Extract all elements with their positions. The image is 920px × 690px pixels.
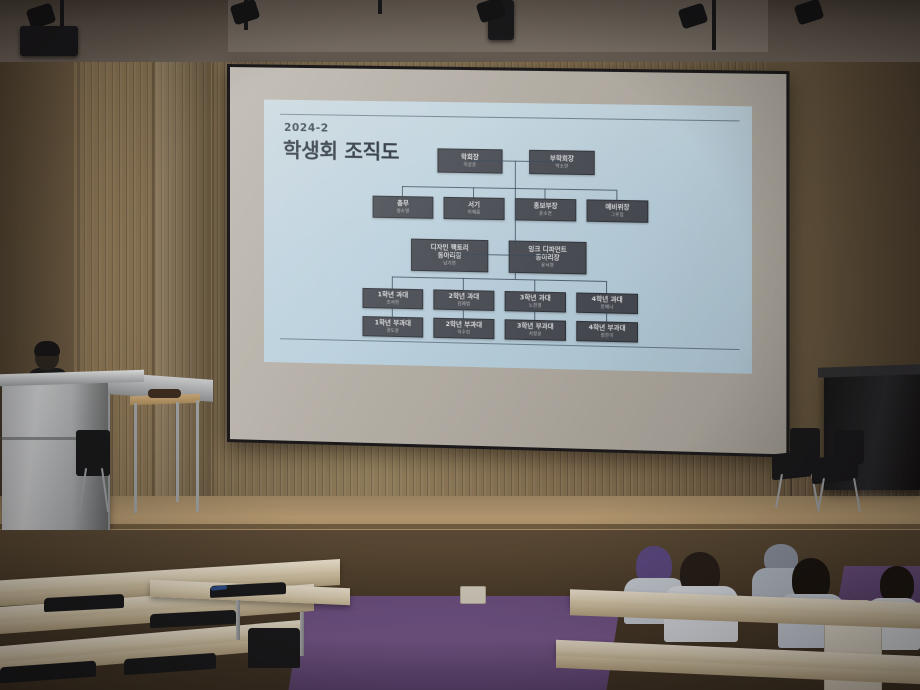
org-connector: [392, 307, 393, 317]
org-connector: [534, 279, 535, 291]
org-node-n9: 1학년 과대조서현: [363, 288, 424, 309]
stage-chair: [76, 430, 110, 476]
org-node-n4: 서기이채름: [444, 197, 505, 220]
org-node-label: 잉크 디파먼트 동아리장: [528, 246, 566, 263]
org-connector: [463, 278, 464, 290]
org-node-label: 서기: [468, 201, 480, 209]
org-node-person: 권도윤: [387, 328, 400, 334]
org-node-label: 2학년 과대: [448, 292, 479, 301]
org-node-label: 3학년 부과대: [517, 322, 554, 331]
light-pole: [378, 0, 382, 14]
light-pole: [712, 0, 716, 50]
org-spine-lower: [515, 271, 516, 279]
org-node-label: 예비위장: [605, 203, 629, 211]
table-leg: [176, 402, 179, 502]
org-node-person: 윤소연: [539, 211, 552, 217]
org-node-n3: 총무정소영: [373, 196, 434, 219]
presenter-hair: [34, 341, 60, 356]
org-node-label: 홍보부장: [533, 202, 557, 210]
stage-edge: [0, 524, 920, 529]
org-node-person: 김제범: [458, 301, 471, 307]
org-node-person: 정소영: [397, 208, 410, 214]
ceiling: [0, 0, 920, 62]
org-node-label: 4학년 과대: [592, 295, 623, 304]
desk-leg: [300, 612, 304, 656]
org-node-n8: 잉크 디파먼트 동아리장윤서현: [509, 240, 587, 274]
org-node-label: 4학년 부과대: [589, 324, 626, 333]
org-bus-level2: [402, 186, 616, 191]
org-node-person: 이상운: [464, 162, 477, 168]
org-node-person: 정찬미: [601, 333, 614, 339]
org-node-n11: 3학년 과대노현열: [505, 291, 566, 313]
org-node-person: 노현열: [529, 303, 542, 309]
org-node-n15: 3학년 부과대서정윤: [505, 319, 566, 341]
stacking-chair-back: [790, 428, 820, 462]
org-node-person: 서정윤: [529, 331, 542, 337]
stacking-chair-back: [834, 430, 864, 464]
wall-speaker: [20, 26, 78, 56]
org-node-n14: 2학년 부과대하수린: [433, 318, 494, 340]
org-connector: [606, 281, 607, 293]
org-node-person: 윤서현: [541, 263, 554, 269]
audience-chair: [248, 628, 300, 668]
wall-seam: [212, 38, 214, 538]
org-connector: [606, 311, 607, 321]
org-node-n12: 4학년 과대한예나: [576, 292, 638, 314]
org-connector: [473, 187, 474, 197]
org-connector: [616, 190, 617, 200]
projection-screen: 2024-2 학생회 조직도 학회장이상운부학회장박소연총무정소영서기이채름홍보…: [227, 64, 789, 458]
desk-outlet: [460, 586, 486, 604]
org-node-n10: 2학년 과대김제범: [433, 289, 494, 311]
org-node-label: 총무: [397, 200, 409, 208]
org-connector: [463, 308, 464, 318]
table-leg: [134, 403, 137, 513]
table-leg: [196, 400, 199, 512]
org-node-person: 한예나: [601, 305, 614, 311]
lecture-hall-scene: 2024-2 학생회 조직도 학회장이상운부학회장박소연총무정소영서기이채름홍보…: [0, 0, 920, 690]
org-node-label: 3학년 과대: [520, 294, 551, 303]
org-node-n6: 예비위장그루밈: [587, 199, 649, 222]
org-spine: [515, 161, 516, 246]
org-node-person: 그루밈: [611, 212, 624, 218]
org-node-person: 남기현: [443, 261, 456, 267]
tray-object: [148, 389, 181, 398]
org-bus-level4: [392, 276, 606, 281]
org-connector: [534, 310, 535, 320]
org-node-person: 하수린: [458, 330, 471, 336]
desk-leg: [236, 600, 240, 640]
presenter-glasses-icon: [37, 355, 56, 360]
org-connector: [402, 186, 403, 196]
org-chart: 학회장이상운부학회장박소연총무정소영서기이채름홍보부장윤소연예비위장그루밈디자인…: [264, 100, 752, 374]
org-node-label: 디자인 팩토리 동아리장: [431, 244, 469, 261]
org-node-n2: 부학회장박소연: [529, 150, 595, 175]
wall-seam: [152, 38, 154, 538]
org-connector: [544, 188, 545, 198]
org-node-person: 박소연: [556, 164, 569, 170]
org-node-label: 1학년 부과대: [375, 319, 412, 328]
presentation-slide: 2024-2 학생회 조직도 학회장이상운부학회장박소연총무정소영서기이채름홍보…: [264, 100, 752, 374]
org-node-person: 이채름: [468, 210, 481, 216]
org-node-n16: 4학년 부과대정찬미: [576, 321, 638, 343]
wall-pilaster: [156, 38, 210, 538]
org-node-n7: 디자인 팩토리 동아리장남기현: [411, 239, 488, 273]
org-connector: [392, 276, 393, 288]
org-node-label: 1학년 과대: [378, 291, 409, 300]
org-node-label: 2학년 부과대: [446, 321, 483, 330]
org-node-person: 조서현: [387, 300, 400, 306]
org-node-n5: 홍보부장윤소연: [515, 198, 576, 221]
org-node-n13: 1학년 부과대권도윤: [363, 316, 424, 338]
